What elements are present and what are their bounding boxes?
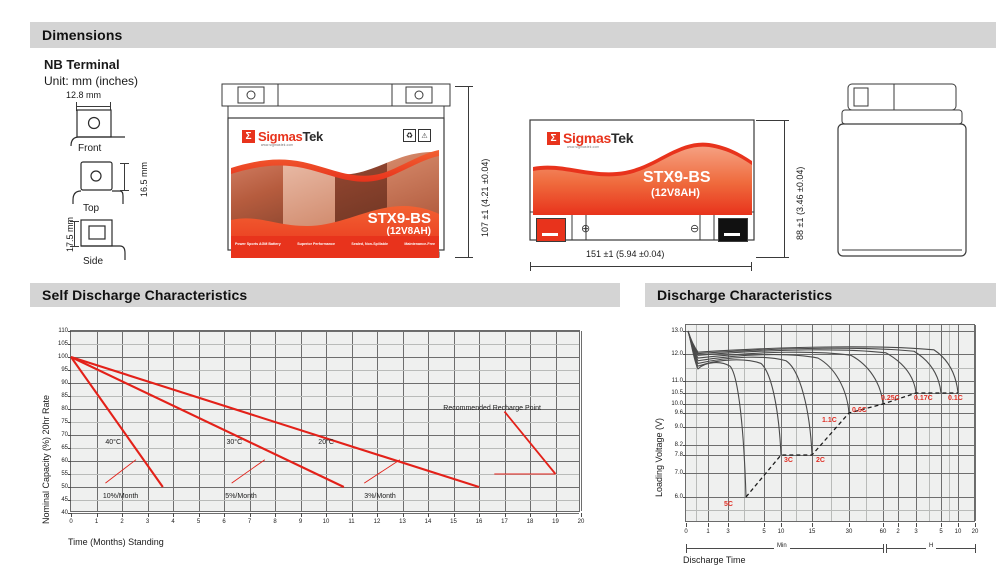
- x-tick-mark: [686, 523, 687, 527]
- discharge-curve-0.6C: [688, 331, 883, 404]
- self-discharge-x-axis-title: Time (Months) Standing: [68, 538, 164, 547]
- positive-terminal-slot: [542, 233, 558, 236]
- discharge-curve-0.1C: [688, 331, 958, 393]
- discharge-x-axis-title: Discharge Time: [683, 556, 746, 565]
- x-tick-label: 3: [909, 529, 923, 535]
- y-tick-label: 65: [51, 445, 68, 451]
- discharge-curve-0.17C: [688, 331, 941, 393]
- battery-width-dim: 88 ±1 (3.46 ±0.04): [796, 167, 805, 240]
- x-tick-mark: [883, 523, 884, 527]
- discharge-line-30°C: [71, 357, 344, 487]
- x-tick-label: 2: [891, 529, 905, 535]
- x-tick-mark: [958, 523, 959, 527]
- discharge-curves: [686, 325, 976, 523]
- plus-polarity-icon: ⊕: [581, 222, 590, 235]
- section-title-dimensions: Dimensions: [30, 27, 122, 43]
- y-tick-label: 105: [51, 341, 68, 347]
- callout-leader: [105, 460, 136, 483]
- label-bullet-1: Superior Performance: [297, 242, 335, 246]
- x-tick-label: 60: [876, 529, 890, 535]
- curve-label-0.17C: 0.17C: [914, 395, 933, 402]
- chart-annotation: 30°C: [227, 439, 243, 446]
- brand-name-side-part1: Sigmas: [563, 130, 611, 146]
- nb-terminal-heading: NB Terminal: [44, 58, 120, 71]
- y-tick-label: 110: [51, 328, 68, 334]
- x-tick-label: 4: [167, 519, 179, 525]
- x-tick-mark: [97, 513, 98, 517]
- x-tick-label: 1: [701, 529, 715, 535]
- x-tick-label: 18: [524, 519, 536, 525]
- self-discharge-chart: Nominal Capacity (%) 20hr Rate Time (Mon…: [30, 312, 620, 572]
- x-tick-mark: [428, 513, 429, 517]
- y-tick-label: 80: [51, 406, 68, 412]
- x-tick-label: 11: [346, 519, 358, 525]
- x-tick-mark: [812, 523, 813, 527]
- y-tick-label: 10.5: [662, 390, 683, 396]
- label-bullet-0: Power Sports AGM Battery: [235, 242, 281, 246]
- x-tick-mark: [530, 513, 531, 517]
- battery-height-dim: 107 ±1 (4.21 ±0.04): [481, 159, 490, 237]
- x-tick-mark: [708, 523, 709, 527]
- negative-terminal-black: [718, 218, 748, 242]
- y-tick-label: 7.0: [662, 470, 683, 476]
- y-tick-label: 75: [51, 419, 68, 425]
- x-tick-label: 0: [65, 519, 77, 525]
- x-tick-label: 17: [499, 519, 511, 525]
- x-scale-bar: MinH: [686, 543, 976, 555]
- x-tick-label: 30: [842, 529, 856, 535]
- y-tick-label: 12.0: [662, 351, 683, 357]
- section-title-discharge: Discharge Characteristics: [645, 287, 832, 303]
- section-header-discharge: Discharge Characteristics: [645, 283, 996, 307]
- y-tick-label: 90: [51, 380, 68, 386]
- x-tick-label: 16: [473, 519, 485, 525]
- terminal-front-label: Front: [78, 144, 101, 154]
- x-tick-mark: [148, 513, 149, 517]
- min-range-end: [883, 544, 884, 553]
- x-tick-mark: [781, 523, 782, 527]
- hour-scale-label: H: [926, 543, 936, 549]
- x-tick-mark: [71, 513, 72, 517]
- x-tick-label: 5: [757, 529, 771, 535]
- callout-leader: [364, 460, 400, 483]
- brand-name-part1: Sigmas: [258, 129, 302, 144]
- discharge-curve-0.25C: [688, 331, 916, 393]
- x-tick-mark: [849, 523, 850, 527]
- x-tick-label: 10: [774, 529, 788, 535]
- terminal-side-label: Side: [83, 257, 103, 267]
- y-tick-label: 7.8: [662, 452, 683, 458]
- curve-label-3C: 3C: [784, 457, 793, 464]
- x-tick-mark: [764, 523, 765, 527]
- battery-model-side: STX9-BS: [643, 169, 711, 187]
- curve-label-0.1C: 0.1C: [948, 395, 963, 402]
- brand-logo-side: Σ SigmasTek: [547, 130, 633, 146]
- battery-label-artwork: Σ SigmasTek www.sigmastek.com ♻ ⚠ STX9-B…: [231, 122, 439, 258]
- x-tick-mark: [173, 513, 174, 517]
- y-tick-label: 50: [51, 484, 68, 490]
- label-bullet-3: Maintenance-Free: [404, 242, 435, 246]
- brand-name-side-part2: Tek: [611, 130, 633, 146]
- y-tick-label: 45: [51, 497, 68, 503]
- curve-label-5C: 5C: [724, 501, 733, 508]
- terminal-top-label: Top: [83, 204, 99, 214]
- curve-label-1.1C: 1.1C: [822, 417, 837, 424]
- x-tick-label: 6: [218, 519, 230, 525]
- self-discharge-plot-area: 4045505560657075808590951001051100123456…: [70, 330, 580, 512]
- x-tick-mark: [556, 513, 557, 517]
- x-tick-mark: [275, 513, 276, 517]
- x-tick-mark: [916, 523, 917, 527]
- brand-website: www.sigmastek.com: [261, 143, 293, 147]
- minus-polarity-icon: ⊖: [690, 222, 699, 235]
- x-tick-mark: [326, 513, 327, 517]
- x-tick-label: 7: [244, 519, 256, 525]
- y-tick-label: 60: [51, 458, 68, 464]
- chart-annotation: 20°C: [318, 439, 334, 446]
- battery-length-dim: 151 ±1 (5.94 ±0.04): [586, 250, 664, 259]
- discharge-line-20°C: [71, 357, 479, 487]
- x-tick-label: 15: [448, 519, 460, 525]
- self-discharge-series: [71, 331, 581, 513]
- brand-website-side: www.sigmastek.com: [567, 145, 599, 149]
- x-tick-mark: [224, 513, 225, 517]
- hour-range-end: [975, 544, 976, 553]
- battery-model-front: STX9-BS: [368, 210, 431, 227]
- gridline-vertical: [581, 331, 582, 511]
- x-tick-label: 5: [934, 529, 948, 535]
- hour-range-start: [886, 544, 887, 553]
- x-tick-label: 1: [91, 519, 103, 525]
- brand-name-part2: Tek: [302, 129, 323, 144]
- x-tick-label: 14: [422, 519, 434, 525]
- x-tick-label: 3: [721, 529, 735, 535]
- y-tick-label: 10.0: [662, 401, 683, 407]
- x-tick-label: 20: [575, 519, 587, 525]
- self-discharge-y-axis-title: Nominal Capacity (%) 20hr Rate: [42, 395, 51, 524]
- y-tick-label: 55: [51, 471, 68, 477]
- y-tick-label: 95: [51, 367, 68, 373]
- y-tick-label: 8.2: [662, 442, 683, 448]
- curve-label-2C: 2C: [816, 457, 825, 464]
- section-header-dimensions: Dimensions: [30, 22, 996, 48]
- caution-icon: ⚠: [418, 129, 431, 142]
- x-tick-mark: [975, 523, 976, 527]
- battery-spec-front: (12V8AH): [387, 226, 431, 237]
- x-tick-label: 5: [193, 519, 205, 525]
- x-tick-label: 12: [371, 519, 383, 525]
- section-title-self-discharge: Self Discharge Characteristics: [30, 287, 247, 303]
- y-tick-label: 100: [51, 354, 68, 360]
- chart-annotation: 5%/Month: [225, 493, 257, 500]
- chart-annotation: 10%/Month: [103, 493, 138, 500]
- x-tick-label: 0: [679, 529, 693, 535]
- x-tick-mark: [505, 513, 506, 517]
- x-tick-label: 2: [116, 519, 128, 525]
- chart-annotation: 3%/Month: [364, 493, 396, 500]
- battery-end-view: [826, 82, 986, 262]
- datasheet-page: Dimensions NB Terminal Unit: mm (inches)…: [0, 0, 1000, 580]
- x-tick-label: 13: [397, 519, 409, 525]
- y-tick-label: 9.0: [662, 424, 683, 430]
- x-tick-label: 15: [805, 529, 819, 535]
- x-tick-mark: [898, 523, 899, 527]
- x-tick-label: 19: [550, 519, 562, 525]
- x-tick-mark: [581, 513, 582, 517]
- x-tick-label: 3: [142, 519, 154, 525]
- x-tick-label: 20: [968, 529, 982, 535]
- terminal-top-dim-label: 16.5 mm: [140, 162, 149, 197]
- terminal-front-dim-label: 12.8 mm: [66, 91, 101, 100]
- unit-note: Unit: mm (inches): [44, 75, 138, 87]
- x-tick-mark: [250, 513, 251, 517]
- recharge-point-leader: [505, 412, 556, 474]
- recycle-icon: ♻: [403, 129, 416, 142]
- brand-logo: Σ SigmasTek: [242, 129, 323, 144]
- curve-label-0.25C: 0.25C: [881, 395, 900, 402]
- min-scale-label: Min: [774, 543, 790, 549]
- y-tick-label: 70: [51, 432, 68, 438]
- label-bullets: Power Sports AGM Battery Superior Perfor…: [235, 242, 435, 246]
- x-tick-mark: [728, 523, 729, 527]
- y-tick-label: 11.0: [662, 378, 683, 384]
- y-tick-label: 13.0: [662, 328, 683, 334]
- x-tick-mark: [377, 513, 378, 517]
- x-tick-mark: [301, 513, 302, 517]
- x-tick-mark: [479, 513, 480, 517]
- negative-terminal-slot: [724, 233, 740, 236]
- x-tick-mark: [122, 513, 123, 517]
- discharge-chart: Loading Voltage (V) Discharge Time 6.07.…: [645, 312, 996, 580]
- x-tick-label: 8: [269, 519, 281, 525]
- positive-terminal-red: [536, 218, 566, 242]
- battery-spec-side: (12V8AH): [651, 187, 700, 199]
- x-tick-mark: [403, 513, 404, 517]
- y-tick-label: 9.6: [662, 410, 683, 416]
- sigma-mark-icon-side: Σ: [547, 132, 560, 145]
- callout-leader: [232, 460, 265, 483]
- curve-label-0.6C: 0.6C: [852, 407, 867, 414]
- x-tick-mark: [454, 513, 455, 517]
- label-bullet-2: Sealed, Non-Spillable: [351, 242, 388, 246]
- x-tick-mark: [941, 523, 942, 527]
- discharge-line-40°C: [71, 357, 163, 487]
- x-tick-label: 10: [320, 519, 332, 525]
- chart-annotation: 40°C: [105, 439, 121, 446]
- y-tick-label: 6.0: [662, 494, 683, 500]
- x-tick-mark: [352, 513, 353, 517]
- min-range-start: [686, 544, 687, 553]
- y-tick-label: 40: [51, 510, 68, 516]
- x-tick-label: 9: [295, 519, 307, 525]
- sigma-mark-icon: Σ: [242, 130, 255, 143]
- x-tick-label: 10: [951, 529, 965, 535]
- terminal-side-dim-label: 17.5 mm: [66, 217, 75, 252]
- discharge-plot-area: 6.07.07.88.29.09.610.010.511.012.013.001…: [685, 324, 975, 522]
- battery-side-label-artwork: Σ SigmasTek www.sigmastek.com STX9-BS (1…: [533, 123, 752, 215]
- section-header-self-discharge: Self Discharge Characteristics: [30, 283, 620, 307]
- y-tick-label: 85: [51, 393, 68, 399]
- chart-annotation: Recommended Recharge Point: [443, 405, 541, 412]
- x-tick-mark: [199, 513, 200, 517]
- discharge-curve-1.1C: [688, 331, 849, 413]
